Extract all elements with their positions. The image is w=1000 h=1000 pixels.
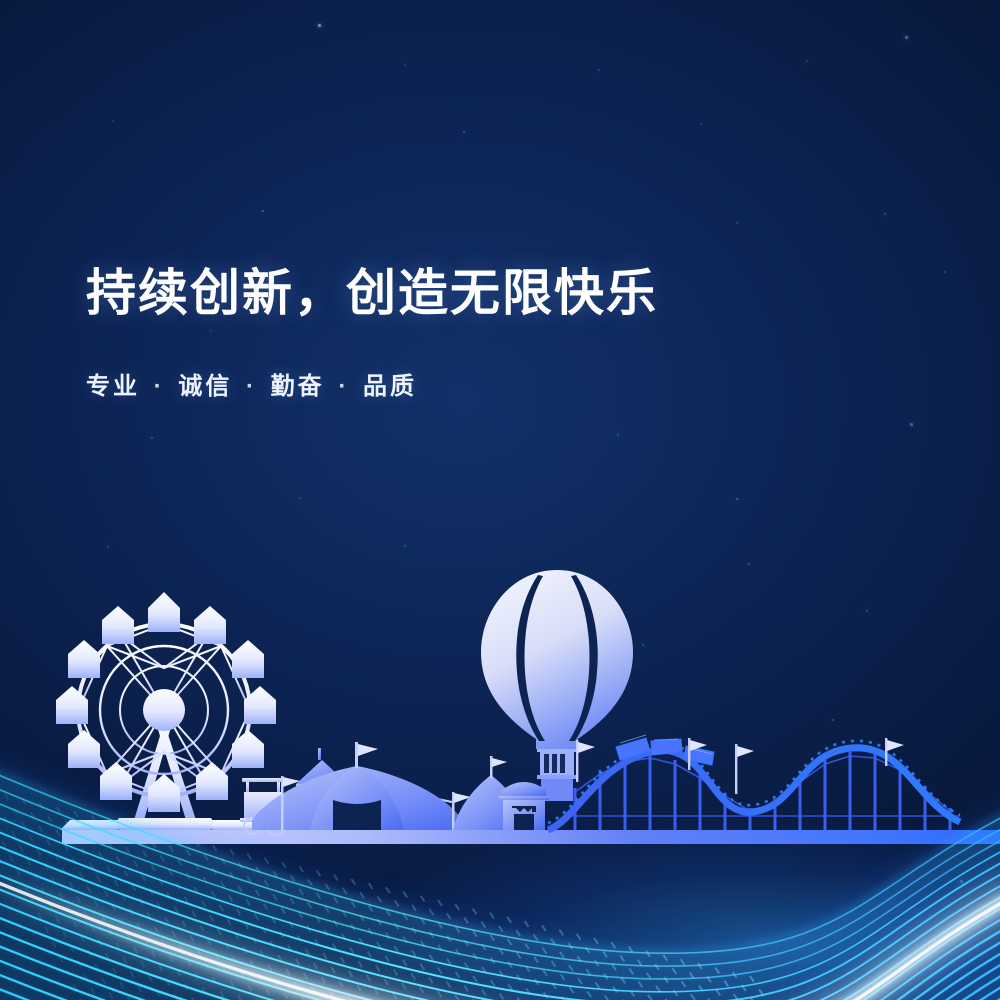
page-title: 持续创新，创造无限快乐 — [86, 268, 658, 318]
star-dot — [806, 60, 808, 62]
star-dot — [598, 69, 600, 71]
glowing-wave-mesh — [0, 690, 1000, 1000]
star-dot — [905, 36, 908, 39]
star-dot — [210, 330, 212, 332]
subtitle-value: 品质 — [363, 373, 417, 400]
star-dot — [404, 64, 406, 66]
star-dot — [910, 423, 913, 426]
star-dot — [112, 120, 114, 122]
star-dot — [299, 497, 301, 499]
star-dot — [463, 131, 465, 133]
banner-canvas: 持续创新，创造无限快乐 专业 · 诚信 · 勤奋 · 品质 — [0, 0, 1000, 1000]
subtitle-value: 专业 — [86, 373, 140, 400]
star-dot — [700, 123, 702, 125]
star-dot — [151, 437, 153, 439]
star-dot — [736, 498, 738, 500]
star-dot — [617, 434, 619, 436]
page-subtitle: 专业 · 诚信 · 勤奋 · 品质 — [86, 375, 417, 399]
star-dot — [944, 271, 946, 273]
subtitle-value: 诚信 — [178, 373, 232, 400]
star-dot — [262, 210, 264, 212]
subtitle-separator: · — [232, 373, 270, 400]
star-dot — [736, 222, 738, 224]
star-dot — [318, 24, 321, 27]
subtitle-value: 勤奋 — [271, 373, 325, 400]
subtitle-separator: · — [325, 373, 363, 400]
subtitle-separator: · — [140, 373, 178, 400]
star-dot — [884, 213, 886, 215]
